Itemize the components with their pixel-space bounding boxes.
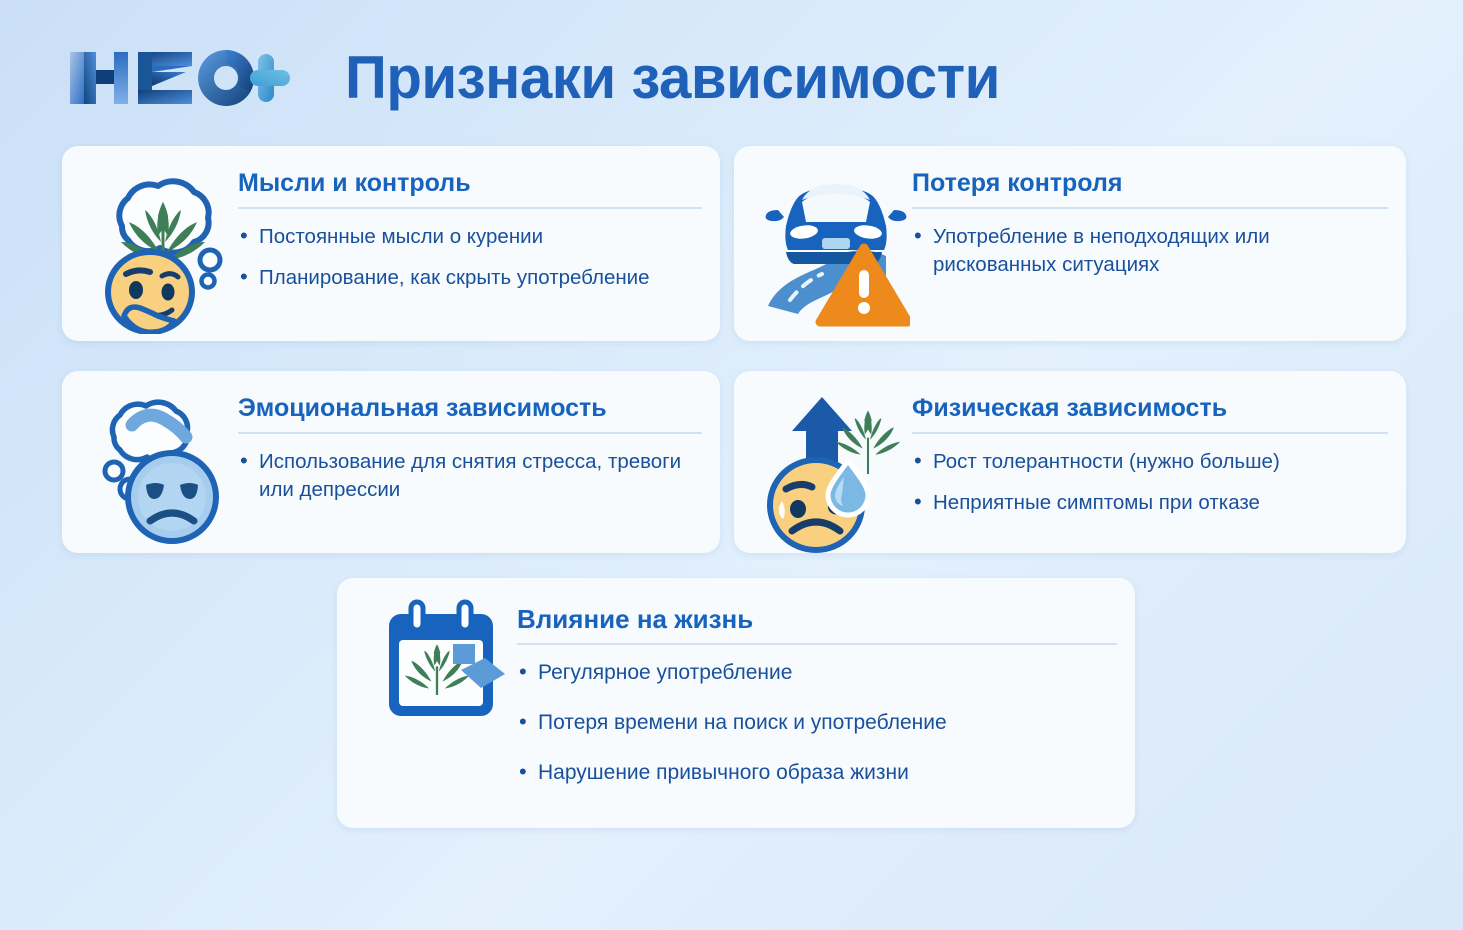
bullet-item: Неприятные симптомы при отказе xyxy=(912,489,1388,517)
car-on-road-with-warning-triangle-icon xyxy=(760,164,910,334)
bullet-list: Постоянные мысли о курении Планирование,… xyxy=(238,223,702,292)
bullet-item: Рост толерантности (нужно больше) xyxy=(912,448,1388,476)
card-impact-on-life: Влияние на жизнь Регулярное употребление… xyxy=(337,578,1135,828)
card-body: Потеря контроля Употребление в неподходя… xyxy=(912,168,1388,333)
neo-plus-logo xyxy=(62,42,292,114)
bullet-item: Нарушение привычного образа жизни xyxy=(517,759,1117,787)
card-body: Эмоциональная зависимость Использование … xyxy=(238,393,702,545)
sad-blue-face-with-thought-bubble-icon xyxy=(88,389,238,553)
card-emotional-dependence: Эмоциональная зависимость Использование … xyxy=(62,371,720,553)
bullet-list: Использование для снятия стресса, тревог… xyxy=(238,448,702,504)
bullet-list: Регулярное употребление Потеря времени н… xyxy=(517,659,1117,787)
bullet-item: Употребление в неподходящих или рискован… xyxy=(912,223,1388,279)
divider xyxy=(912,432,1388,434)
sweating-sad-face-with-up-arrow-and-cannabis-icon xyxy=(760,389,910,553)
page-title: Признаки зависимости xyxy=(345,38,1000,118)
header: Признаки зависимости xyxy=(0,0,1463,140)
thinking-face-with-cannabis-thought-bubble-icon xyxy=(88,164,238,334)
calendar-with-cannabis-leaf-icon xyxy=(375,598,515,728)
card-heading: Эмоциональная зависимость xyxy=(238,393,702,423)
divider xyxy=(238,207,702,209)
card-body: Мысли и контроль Постоянные мысли о куре… xyxy=(238,168,702,333)
card-heading: Физическая зависимость xyxy=(912,393,1388,423)
card-heading: Мысли и контроль xyxy=(238,168,702,198)
bullet-item: Регулярное употребление xyxy=(517,659,1117,687)
divider xyxy=(517,643,1117,645)
card-heading: Влияние на жизнь xyxy=(517,604,1117,634)
card-physical-dependence: Физическая зависимость Рост толерантност… xyxy=(734,371,1406,553)
card-thoughts-and-control: Мысли и контроль Постоянные мысли о куре… xyxy=(62,146,720,341)
bullet-item: Потеря времени на поиск и употребление xyxy=(517,709,1117,737)
bullet-list: Рост толерантности (нужно больше) Неприя… xyxy=(912,448,1388,517)
infographic-poster: Признаки зависимости xyxy=(0,0,1463,930)
card-body: Физическая зависимость Рост толерантност… xyxy=(912,393,1388,545)
card-loss-of-control: Потеря контроля Употребление в неподходя… xyxy=(734,146,1406,341)
bullet-item: Использование для снятия стресса, тревог… xyxy=(238,448,702,504)
card-heading: Потеря контроля xyxy=(912,168,1388,198)
bullet-list: Употребление в неподходящих или рискован… xyxy=(912,223,1388,279)
card-body: Влияние на жизнь Регулярное употребление… xyxy=(517,604,1117,820)
bullet-item: Постоянные мысли о курении xyxy=(238,223,702,251)
bullet-item: Планирование, как скрыть употребление xyxy=(238,264,702,292)
divider xyxy=(912,207,1388,209)
divider xyxy=(238,432,702,434)
